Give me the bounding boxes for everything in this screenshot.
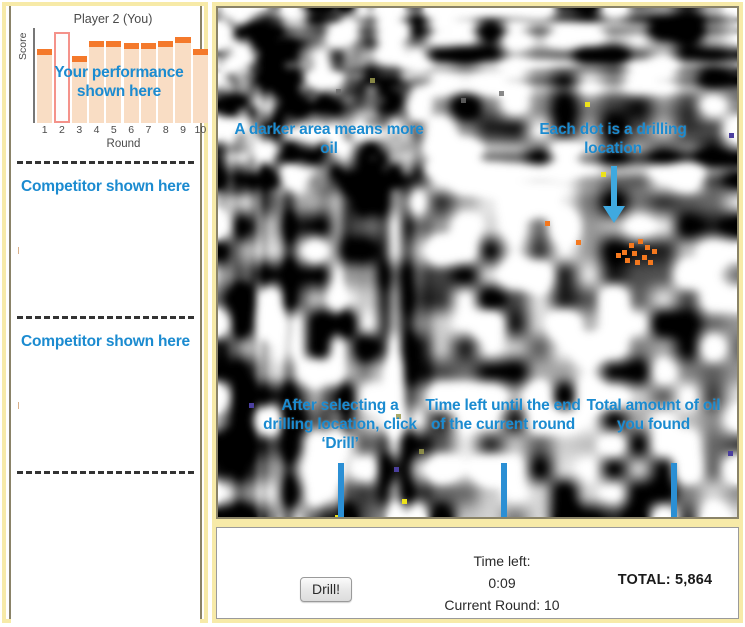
current-round-label: Current Round: 10 [417,594,587,616]
competitor-panel-3 [11,471,200,627]
player-panel-you: Player 2 (You) Score 12345678910 Round Y… [11,6,200,161]
chart-bar-cap [158,41,173,47]
competitor-placeholder-label-2: Competitor shown here [19,332,192,351]
chart-x-axis-label: Round [36,138,211,150]
drilling-location-dot[interactable] [585,102,590,107]
drilling-location-dot[interactable] [616,253,621,258]
chart-x-tick: 2 [53,124,70,136]
drilling-location-dot[interactable] [635,260,640,265]
players-sidebar-inner: Player 2 (You) Score 12345678910 Round Y… [9,6,202,619]
chart-bar-cap [193,49,208,55]
panel-divider [17,161,194,164]
chart-bar-cap [124,43,139,49]
drilling-location-dot[interactable] [394,467,399,472]
arrow-to-dots-icon [601,166,627,224]
annotation-time-left: Time left until the end of the current r… [423,396,583,434]
drilling-location-dot[interactable] [632,251,637,256]
panel-divider [17,471,194,474]
drilling-location-dot[interactable] [499,91,504,96]
competitor-panel-1: Competitor shown here [11,161,200,316]
oil-map-frame[interactable]: A darker area means more oil Each dot is… [216,6,739,519]
total-score-label: TOTAL: 5,864 [595,572,735,588]
drilling-location-dot[interactable] [249,403,254,408]
time-left-label: Time left: [417,550,587,572]
competitor-panel-2: Competitor shown here [11,316,200,471]
drilling-location-dot[interactable] [728,451,733,456]
chart-x-tick: 6 [123,124,140,136]
oil-drilling-game-screen: Player 2 (You) Score 12345678910 Round Y… [0,0,745,627]
arrow-to-drill-button-icon [328,463,354,519]
competitor-placeholder-label-1: Competitor shown here [19,177,192,196]
drilling-location-dot[interactable] [622,250,627,255]
drilling-location-dot[interactable] [370,78,375,83]
drilling-location-dot[interactable] [645,245,650,250]
chart-bar-cap [106,41,121,47]
chart-bar-cap [37,49,52,55]
drilling-location-dot[interactable] [652,249,657,254]
chart-x-tick: 9 [174,124,191,136]
drilling-location-dot[interactable] [545,221,550,226]
annotation-total-oil: Total amount of oil you found [576,396,731,434]
chart-y-axis-label: Score [17,33,29,60]
chart-x-tick: 8 [157,124,174,136]
chart-title: Player 2 (You) [15,12,211,26]
chart-x-tick-labels: 12345678910 [36,124,209,138]
chart-overlay-annotation: Your performance shown here [31,63,207,101]
panel-divider [17,316,194,319]
chart-bar-cap [141,43,156,49]
drilling-location-dot[interactable] [729,133,734,138]
arrow-to-time-icon [491,463,517,519]
drilling-location-dot[interactable] [576,240,581,245]
annotation-after-drill: After selecting a drilling location, cli… [260,396,420,453]
drilling-location-dot[interactable] [642,255,647,260]
player-score-chart: Player 2 (You) Score 12345678910 Round Y… [15,8,211,156]
drilling-location-dot[interactable] [648,260,653,265]
oil-map-panel: A darker area means more oil Each dot is… [212,2,743,523]
drilling-location-dot[interactable] [461,98,466,103]
status-panel: Drill! Time left: 0:09 Current Round: 10… [212,523,743,623]
time-info-block: Time left: 0:09 Current Round: 10 [417,550,587,616]
chart-x-tick: 7 [140,124,157,136]
players-sidebar: Player 2 (You) Score 12345678910 Round Y… [2,2,208,623]
chart-x-tick: 1 [36,124,53,136]
axis-tick-mark [18,247,19,254]
chart-x-tick: 4 [88,124,105,136]
chart-bar-cap [175,37,190,43]
chart-x-tick: 10 [192,124,209,136]
chart-x-tick: 5 [105,124,122,136]
drilling-location-dot[interactable] [638,239,643,244]
chart-bar-cap [89,41,104,47]
drilling-location-dot[interactable] [629,243,634,248]
drilling-location-dot[interactable] [336,89,341,94]
arrow-to-total-icon [661,463,687,519]
drill-button[interactable]: Drill! [300,577,352,602]
chart-x-tick: 3 [71,124,88,136]
chart-bar-cap [72,56,87,62]
drilling-location-dot[interactable] [402,499,407,504]
axis-tick-mark [18,402,19,409]
annotation-drilling-dots: Each dot is a drilling location [518,120,708,158]
time-left-value: 0:09 [417,572,587,594]
drilling-location-dot[interactable] [625,258,630,263]
annotation-darker-area: A darker area means more oil [234,120,424,158]
status-panel-frame: Drill! Time left: 0:09 Current Round: 10… [216,527,739,619]
